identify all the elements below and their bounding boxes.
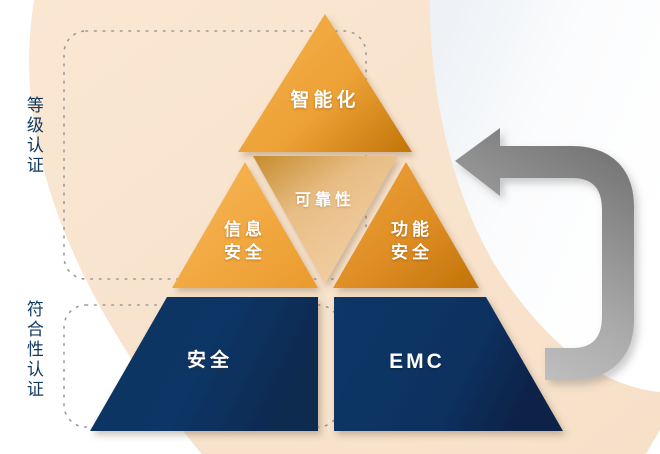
block-emc[interactable] (334, 297, 563, 431)
diagram-canvas: 等级认证 符合性认证 智能化 可靠性 信息 安全 功能 安全 安全 EMC (0, 0, 660, 454)
side-label-conformity-certification: 符合性认证 (24, 300, 42, 400)
block-apex[interactable] (238, 14, 412, 152)
pyramid-artwork (0, 0, 660, 454)
block-safety[interactable] (90, 297, 318, 431)
side-label-grade-certification: 等级认证 (24, 96, 42, 176)
